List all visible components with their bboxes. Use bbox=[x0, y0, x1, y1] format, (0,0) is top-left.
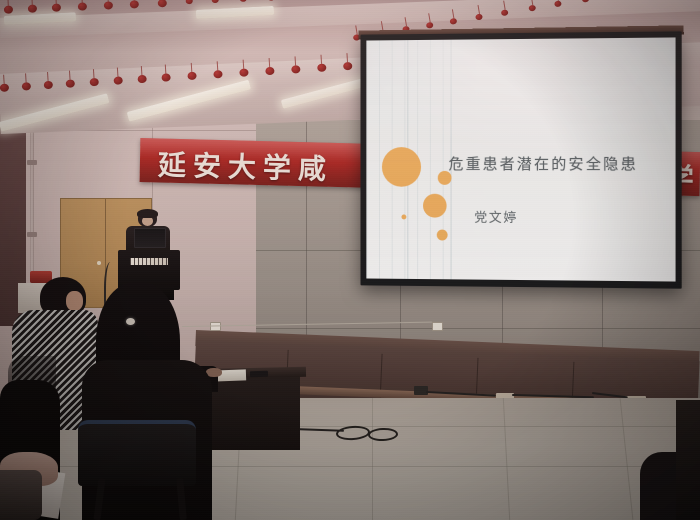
slide-bubble-large bbox=[382, 147, 421, 187]
lecture-hall-photo: 延安大学咸 学 危重患者潜在的安全隐患 党文婷 bbox=[0, 0, 700, 520]
banner-text: 延安大学咸 bbox=[158, 143, 334, 187]
presentation-slide: 危重患者潜在的安全隐患 党文婷 bbox=[366, 37, 675, 281]
pipe-clamp bbox=[27, 160, 37, 165]
audience-member-1-face bbox=[66, 291, 83, 311]
panel-seam bbox=[250, 328, 700, 329]
wall-pipe bbox=[30, 112, 34, 292]
slide-bubble-medium bbox=[423, 194, 447, 218]
hair-clip bbox=[126, 318, 135, 325]
podium-sign-text bbox=[130, 258, 168, 265]
chair[interactable] bbox=[78, 420, 196, 486]
door-knob[interactable] bbox=[97, 261, 101, 265]
laptop bbox=[134, 228, 166, 248]
projection-screen: 危重患者潜在的安全隐患 党文婷 bbox=[361, 31, 682, 288]
chair-back-right bbox=[676, 400, 700, 520]
wall-socket bbox=[432, 322, 443, 331]
presenter-hair bbox=[137, 209, 158, 218]
audience-sleeve bbox=[0, 470, 42, 520]
pipe-clamp bbox=[27, 232, 37, 237]
slide-bubble-dot bbox=[401, 214, 406, 219]
desk-phone bbox=[250, 371, 268, 378]
slide-title: 危重患者潜在的安全隐患 bbox=[449, 153, 638, 174]
slide-bubble-small bbox=[437, 230, 448, 241]
slide-author: 党文婷 bbox=[474, 207, 518, 226]
wall-socket bbox=[210, 322, 221, 331]
